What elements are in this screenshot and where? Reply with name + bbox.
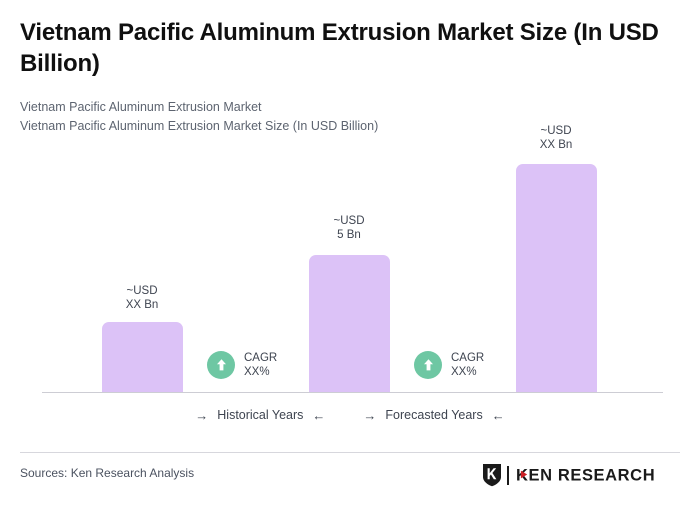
arrow-right-icon: →	[195, 409, 208, 422]
arrow-up-icon	[414, 351, 442, 379]
svg-text:KEN RESEARCH: KEN RESEARCH	[516, 467, 655, 485]
bar-value-label-3: ~USD XX Bn	[501, 124, 611, 152]
arrow-up-icon	[207, 351, 235, 379]
arrow-left-icon: ←	[492, 409, 505, 422]
arrow-right-icon: →	[363, 409, 376, 422]
chart-baseline	[42, 392, 663, 393]
bar-value-label-1: ~USD XX Bn	[87, 284, 197, 312]
bar-value-label-2-line2: 5 Bn	[294, 228, 404, 242]
bar-value-label-1-line2: XX Bn	[87, 298, 197, 312]
bar-value-label-2: ~USD 5 Bn	[294, 214, 404, 242]
cagr-badge-2-line2: XX%	[451, 366, 477, 378]
sources-text: Sources: Ken Research Analysis	[20, 466, 194, 480]
cagr-badge-2-text: CAGR XX%	[451, 351, 484, 379]
cagr-badge-1-text: CAGR XX%	[244, 351, 277, 379]
cagr-badge-2[interactable]: CAGR XX%	[414, 351, 484, 379]
legend-forecasted-years-label: Forecasted Years	[385, 408, 482, 422]
bar-value-label-3-line1: ~USD	[501, 124, 611, 138]
cagr-badge-1-line2: XX%	[244, 366, 270, 378]
legend-forecasted-years[interactable]: → Forecasted Years ←	[363, 408, 504, 422]
cagr-badge-2-line1: CAGR	[451, 352, 484, 364]
legend-historical-years-label: Historical Years	[217, 408, 303, 422]
bar-1[interactable]	[102, 322, 183, 392]
year-legend: → Historical Years ← → Forecasted Years …	[0, 408, 700, 422]
footer-divider	[20, 452, 680, 453]
logo-divider	[507, 466, 509, 485]
bar-value-label-1-line1: ~USD	[87, 284, 197, 298]
bar-value-label-3-line2: XX Bn	[501, 138, 611, 152]
bar-2[interactable]	[309, 255, 390, 392]
legend-historical-years[interactable]: → Historical Years ←	[195, 408, 325, 422]
cagr-badge-1[interactable]: CAGR XX%	[207, 351, 277, 379]
ken-research-wordmark: KEN RESEARCH	[516, 465, 688, 485]
shield-logo-icon	[482, 463, 502, 487]
cagr-badge-1-line1: CAGR	[244, 352, 277, 364]
bar-value-label-2-line1: ~USD	[294, 214, 404, 228]
arrow-left-icon: ←	[312, 409, 325, 422]
bar-3[interactable]	[516, 164, 597, 392]
chart-page: Vietnam Pacific Aluminum Extrusion Marke…	[0, 0, 700, 520]
chart-plot-area: ~USD XX Bn CAGR XX% ~USD 5 Bn	[0, 0, 700, 400]
ken-research-logo: KEN RESEARCH	[482, 463, 688, 487]
